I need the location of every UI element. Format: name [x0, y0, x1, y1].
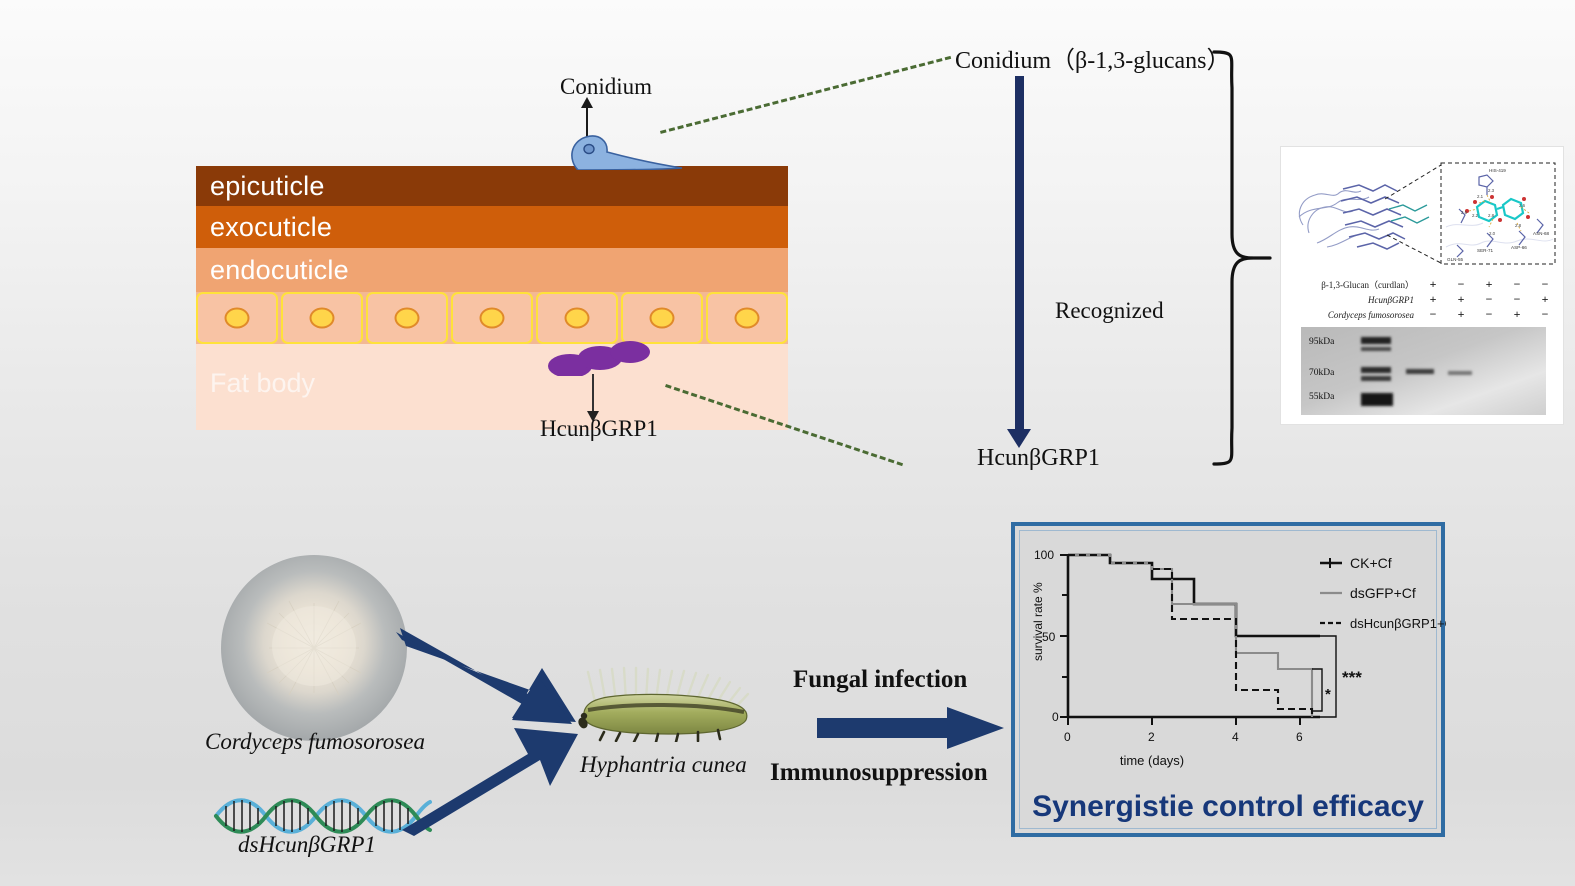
gel-sign: +: [1475, 277, 1503, 292]
residue-label-his419: HIS-419: [1489, 168, 1506, 173]
mw-label-55: 55kDa: [1309, 392, 1335, 402]
gel-sign: −: [1475, 307, 1503, 322]
nucleus-icon: [395, 308, 420, 329]
fungus-colony-image: [219, 553, 409, 743]
epithelial-cell: [451, 292, 533, 344]
grp-protein-icon: [548, 340, 658, 376]
xtick-2: 2: [1148, 730, 1155, 744]
recognition-arrow: [1015, 76, 1024, 431]
nucleus-icon: [225, 308, 250, 329]
residue-label-gln55: GLN-55: [1447, 257, 1464, 262]
legend-label-ck: CK+Cf: [1350, 555, 1392, 571]
protein-structure-image: HIS-419 GLN-55 SER-71 ASP-66 ASN-68 2.32…: [1281, 147, 1563, 277]
survival-chart: 100 50 0 0 2 4 6 survival rate % time (d…: [1020, 531, 1446, 781]
epithelial-cell: [281, 292, 363, 344]
svg-text:2.8: 2.8: [1515, 223, 1522, 228]
xtick-0: 0: [1064, 730, 1071, 744]
residue-label-asp66: ASP-66: [1511, 245, 1527, 250]
larva-species-label: Hyphantria cunea: [580, 752, 747, 778]
residue-label-ser71: SER-71: [1477, 248, 1494, 253]
fat-body-label: Fat body: [210, 368, 315, 399]
arrow-fungus-to-larva: [396, 618, 606, 728]
immunosuppression-label: Immunosuppression: [770, 759, 988, 787]
gel-row-label-grp: HcunβGRP1: [1281, 295, 1419, 305]
layer-label-endocuticle: endocuticle: [196, 255, 349, 286]
svg-text:2.3: 2.3: [1488, 188, 1495, 193]
dsrna-label: dsHcunβGRP1: [238, 832, 376, 858]
nucleus-icon: [650, 308, 675, 329]
conidium-label: Conidium: [560, 74, 652, 100]
ytick-0: 0: [1052, 710, 1059, 724]
gel-condition-row: Cordyceps fumosorosea − + − + −: [1281, 307, 1563, 322]
gel-sign: −: [1531, 307, 1559, 322]
gel-row-label-glucan: β-1,3-Glucan（curdlan）: [1281, 278, 1419, 291]
grp-protein-label: HcunβGRP1: [540, 416, 658, 442]
pathway-bottom-label: HcunβGRP1: [977, 445, 1100, 472]
nucleus-icon: [310, 308, 335, 329]
gel-sign: +: [1531, 292, 1559, 307]
survival-panel: 100 50 0 0 2 4 6 survival rate % time (d…: [1011, 522, 1445, 837]
chart-legend: CK+Cf dsGFP+Cf dsHcunβGRP1+Cf: [1320, 555, 1446, 631]
epithelial-cell: [621, 292, 703, 344]
western-blot-image: 95kDa 70kDa 55kDa: [1301, 327, 1546, 415]
layer-label-epicuticle: epicuticle: [196, 171, 325, 202]
epithelial-cell: [366, 292, 448, 344]
gel-sign: −: [1503, 292, 1531, 307]
cuticle-layer-endocuticle: endocuticle: [196, 248, 788, 292]
svg-text:2.1: 2.1: [1477, 194, 1484, 199]
epithelial-cell: [196, 292, 278, 344]
gel-sign: −: [1419, 307, 1447, 322]
xtick-4: 4: [1232, 730, 1239, 744]
gel-sign: −: [1475, 292, 1503, 307]
svg-text:2.6: 2.6: [1519, 203, 1526, 208]
nucleus-icon: [735, 308, 760, 329]
gel-sign: −: [1503, 277, 1531, 292]
gel-sign: +: [1503, 307, 1531, 322]
xtick-6: 6: [1296, 730, 1303, 744]
svg-text:2.8: 2.8: [1488, 213, 1495, 218]
conidium-icon: [562, 130, 692, 170]
svg-text:2.0: 2.0: [1489, 231, 1496, 236]
epithelial-cell: [706, 292, 788, 344]
grp-protein-group: HcunβGRP1: [548, 340, 738, 450]
mw-label-70: 70kDa: [1309, 368, 1335, 378]
series-ck-cf: [1068, 555, 1320, 636]
gel-sign: +: [1447, 307, 1475, 322]
fungal-infection-label: Fungal infection: [793, 666, 967, 694]
significance-marker-1star: *: [1325, 686, 1331, 703]
gel-sign: +: [1419, 292, 1447, 307]
fungus-species-label: Cordyceps fumosorosea: [205, 729, 425, 755]
gel-sign: +: [1419, 277, 1447, 292]
pathway-top-label: Conidium（β-1,3-glucans）: [955, 40, 1231, 75]
right-curly-brace: [1212, 48, 1272, 468]
legend-label-dsgfp: dsGFP+Cf: [1350, 585, 1416, 601]
recognition-pathway: Conidium（β-1,3-glucans） Recognized Hcunβ…: [955, 40, 1255, 480]
residue-label-asn68: ASN-68: [1533, 231, 1550, 236]
epithelial-cell-row: [196, 292, 788, 344]
arrow-dsrna-to-larva: [400, 720, 600, 840]
significance-marker-3star: ***: [1342, 668, 1362, 687]
cuticle-layer-epicuticle: epicuticle: [196, 166, 788, 206]
gel-condition-row: β-1,3-Glucan（curdlan） + − + − −: [1281, 277, 1563, 292]
gel-row-label-cordyceps: Cordyceps fumosorosea: [1281, 310, 1419, 320]
synergistic-efficacy-title: Synergistie control efficacy: [1020, 790, 1436, 824]
x-axis-label: time (days): [1120, 753, 1184, 768]
layer-label-exocuticle: exocuticle: [196, 212, 332, 243]
legend-label-dshcun: dsHcunβGRP1+Cf: [1350, 616, 1446, 631]
gel-sign: +: [1447, 292, 1475, 307]
grp-down-arrow: [592, 374, 594, 412]
conidium-group: Conidium: [556, 76, 746, 168]
nucleus-icon: [480, 308, 505, 329]
gel-condition-table: β-1,3-Glucan（curdlan） + − + − − HcunβGRP…: [1281, 277, 1563, 324]
mw-label-95: 95kDa: [1309, 337, 1335, 347]
svg-text:2.2: 2.2: [1472, 213, 1479, 218]
svg-text:2.6: 2.6: [1461, 210, 1468, 215]
nucleus-icon: [565, 308, 590, 329]
cuticle-layer-exocuticle: exocuticle: [196, 206, 788, 248]
arrow-to-survival-panel: [817, 707, 1004, 749]
y-axis-label: survival rate %: [1031, 582, 1045, 661]
recognized-label: Recognized: [1055, 298, 1164, 324]
epithelial-cell: [536, 292, 618, 344]
evidence-figure-panel: HIS-419 GLN-55 SER-71 ASP-66 ASN-68 2.32…: [1281, 147, 1563, 424]
ytick-100: 100: [1034, 548, 1054, 562]
gel-sign: −: [1531, 277, 1559, 292]
gel-sign: −: [1447, 277, 1475, 292]
gel-condition-row: HcunβGRP1 + + − − +: [1281, 292, 1563, 307]
